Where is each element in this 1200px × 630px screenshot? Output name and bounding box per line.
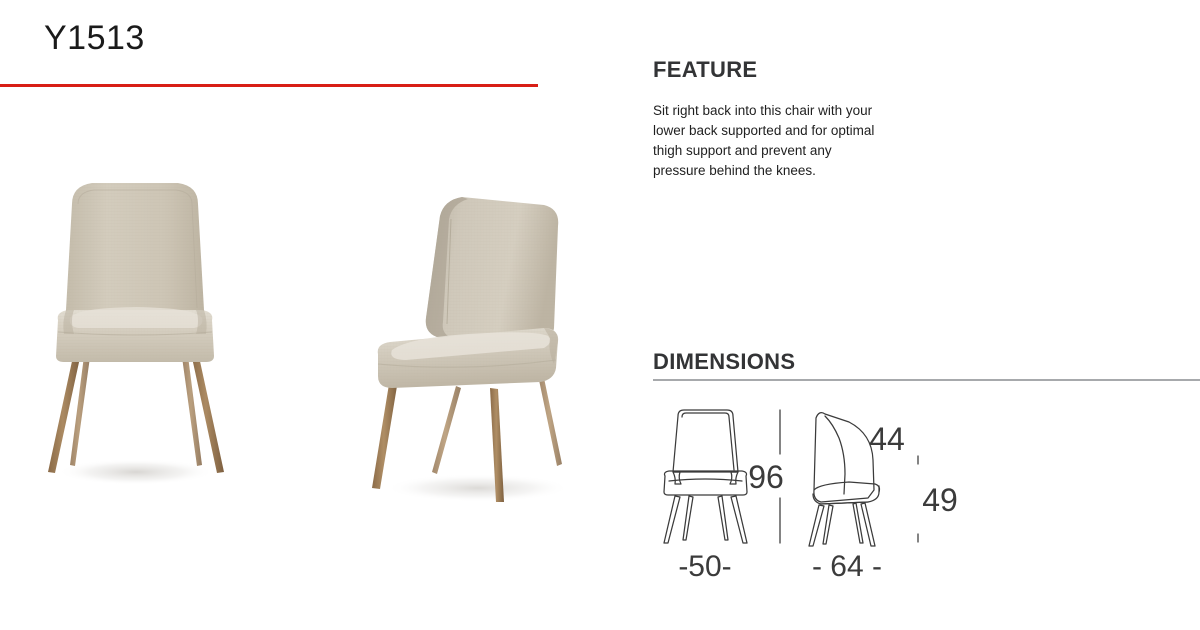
dimensions-heading-row: DIMENSIONS <box>653 350 1200 384</box>
feature-body-line: thigh support and prevent any <box>653 141 933 161</box>
dimensions-section: DIMENSIONS <box>653 350 1200 384</box>
dimensions-heading: DIMENSIONS <box>653 350 795 374</box>
chair-front-line-drawing <box>664 410 747 543</box>
feature-body: Sit right back into this chair with your… <box>653 101 933 180</box>
feature-body-line: pressure behind the knees. <box>653 161 933 181</box>
title-accent-rule <box>0 84 538 87</box>
product-photo-area <box>0 100 620 630</box>
dimension-label-width: -50- <box>678 550 731 583</box>
dimension-label-height: 96 <box>748 459 784 495</box>
feature-heading: FEATURE <box>653 58 953 82</box>
dimension-diagrams: 96 44 49 -50- - 64 - <box>653 398 1200 598</box>
page-title: Y1513 <box>44 18 145 59</box>
dimension-label-back-height: 44 <box>869 421 905 457</box>
feature-body-line: lower back supported and for optimal <box>653 121 933 141</box>
chair-three-quarter-photo <box>348 172 608 522</box>
dimension-label-seat-height: 49 <box>922 482 958 518</box>
feature-section: FEATURE Sit right back into this chair w… <box>653 58 953 181</box>
dimension-label-depth: - 64 - <box>812 550 882 583</box>
feature-body-line: Sit right back into this chair with your <box>653 101 933 121</box>
chair-front-photo <box>18 160 258 510</box>
dimensions-rule <box>653 379 1200 381</box>
